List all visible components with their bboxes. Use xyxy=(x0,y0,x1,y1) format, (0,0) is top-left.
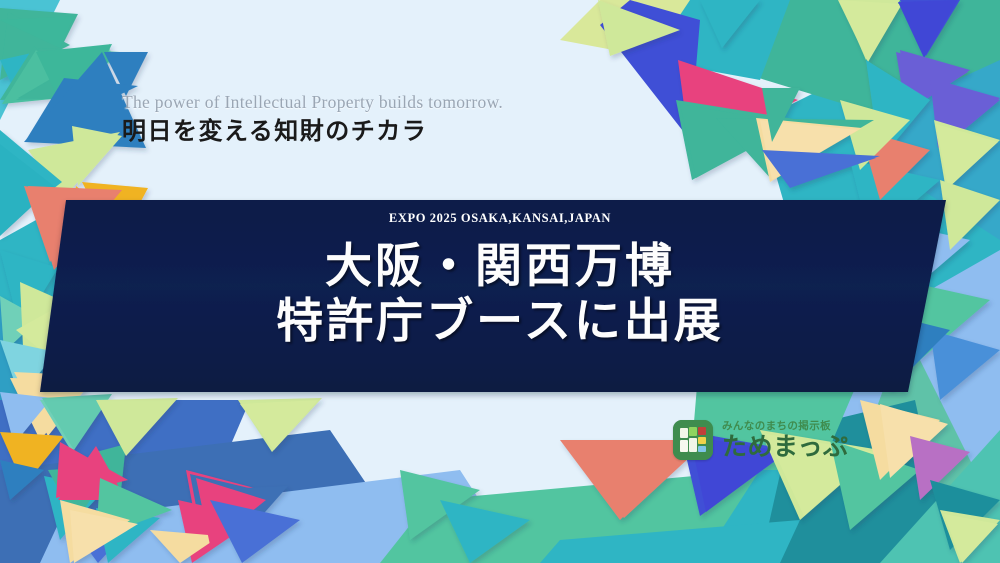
logo-tagline: みんなのまちの掲示板 xyxy=(722,421,849,432)
tagline-japanese: 明日を変える知財のチカラ xyxy=(122,115,503,146)
tagline-block: The power of Intellectual Property build… xyxy=(122,92,503,146)
poster-canvas: The power of Intellectual Property build… xyxy=(0,0,1000,563)
bulletin-board-icon xyxy=(673,420,713,460)
logo-wordmark: ためまっぷ xyxy=(722,434,849,459)
tagline-english: The power of Intellectual Property build… xyxy=(122,92,503,113)
logo-text-column: みんなのまちの掲示板 ためまっぷ xyxy=(722,421,849,460)
decorative-triangle-background xyxy=(0,0,1000,563)
tamemap-logo[interactable]: みんなのまちの掲示板 ためまっぷ xyxy=(673,420,849,460)
